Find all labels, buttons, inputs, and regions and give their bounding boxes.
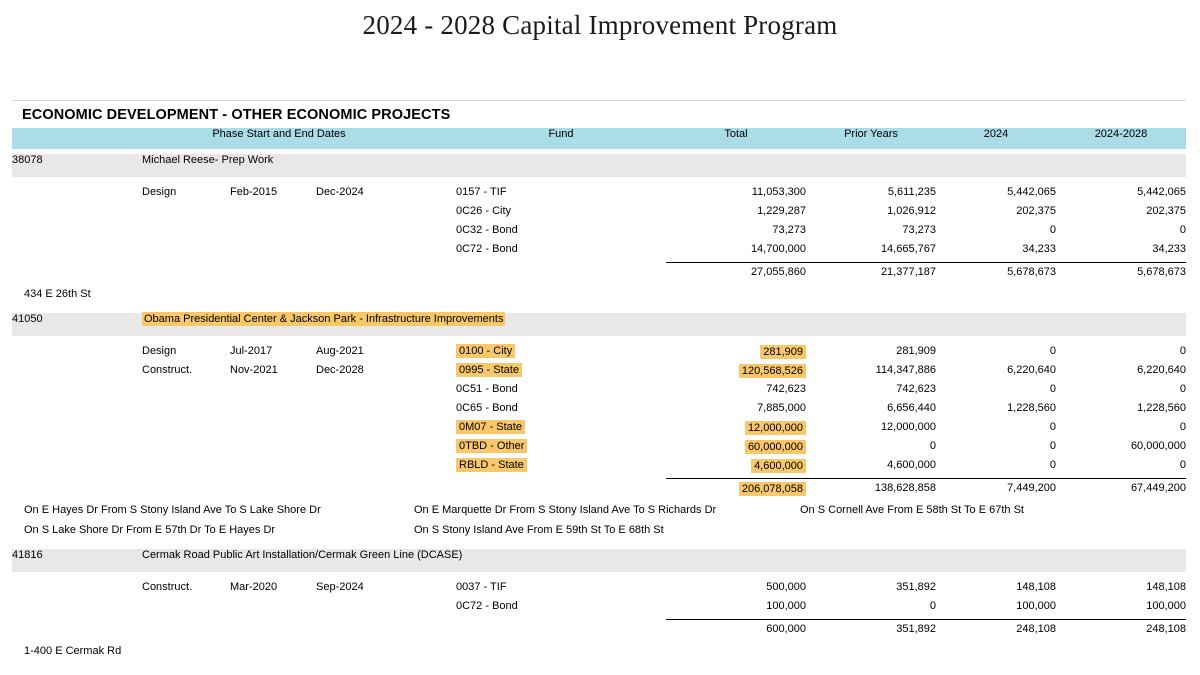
phase-start-date: [230, 421, 316, 440]
fund-total: 7,885,000: [666, 402, 806, 421]
phase-end-date: Dec-2024: [316, 186, 416, 205]
project-header-row: 41816Cermak Road Public Art Installation…: [12, 549, 1186, 572]
row-spacer: [12, 177, 1186, 186]
address-row: 1-400 E Cermak Rd: [12, 645, 1186, 665]
total-total: 206,078,058: [666, 479, 806, 505]
row-lead: [12, 459, 142, 479]
phase-start-date: [230, 440, 316, 459]
table-row: 0C26 - City1,229,2871,026,912202,375202,…: [12, 205, 1186, 224]
fund-label: 0C32 - Bond: [456, 224, 666, 243]
fund-prior-years: 1,026,912: [806, 205, 936, 224]
address-row: 434 E 26th St: [12, 288, 1186, 308]
row-lead: [12, 383, 142, 402]
fund-label: RBLD - State: [456, 459, 666, 479]
fund-2024-2028: 0: [1056, 345, 1186, 364]
fund-2024: 34,233: [936, 243, 1056, 263]
total-total: 600,000: [666, 620, 806, 646]
fund-2024: 202,375: [936, 205, 1056, 224]
table-row: DesignJul-2017Aug-20210100 - City281,909…: [12, 345, 1186, 364]
fund-total: 14,700,000: [666, 243, 806, 263]
fund-label: 0C51 - Bond: [456, 383, 666, 402]
table-row: DesignFeb-2015Dec-20240157 - TIF11,053,3…: [12, 186, 1186, 205]
phase-end-date: [316, 243, 416, 263]
row-gap: [416, 421, 456, 440]
phase-start-date: Mar-2020: [230, 581, 316, 600]
phase-start-date: [230, 243, 316, 263]
phase-end-date: [316, 459, 416, 479]
fund-2024-2028: 202,375: [1056, 205, 1186, 224]
fund-prior-years: 6,656,440: [806, 402, 936, 421]
project-id: 41050: [12, 313, 142, 336]
fund-2024: 0: [936, 421, 1056, 440]
fund-label: 0037 - TIF: [456, 581, 666, 600]
fund-2024-2028: 1,228,560: [1056, 402, 1186, 421]
address-line: 434 E 26th St: [12, 288, 1186, 308]
fund-2024-2028: 0: [1056, 421, 1186, 440]
row-lead: [12, 421, 142, 440]
row-lead: [12, 440, 142, 459]
fund-2024-2028: 0: [1056, 383, 1186, 402]
total-prior-years: 138,628,858: [806, 479, 936, 505]
total-2024: 248,108: [936, 620, 1056, 646]
fund-prior-years: 281,909: [806, 345, 936, 364]
row-lead: [12, 243, 142, 263]
total-total: 27,055,860: [666, 263, 806, 289]
phase-end-date: [316, 440, 416, 459]
row-gap: [416, 186, 456, 205]
fund-total: 12,000,000: [666, 421, 806, 440]
row-lead: [12, 581, 142, 600]
fund-2024: 0: [936, 224, 1056, 243]
project-id: 41816: [12, 549, 142, 572]
phase-start-date: [230, 402, 316, 421]
row-gap: [416, 243, 456, 263]
fund-total: 500,000: [666, 581, 806, 600]
address-col-1: 434 E 26th St: [24, 288, 91, 300]
table-row: 0C72 - Bond14,700,00014,665,76734,23334,…: [12, 243, 1186, 263]
row-gap: [416, 459, 456, 479]
row-lead: [12, 364, 142, 383]
phase-end-date: [316, 402, 416, 421]
phase-start-date: Jul-2017: [230, 345, 316, 364]
fund-2024: 6,220,640: [936, 364, 1056, 383]
header-phase-dates: Phase Start and End Dates: [142, 128, 416, 149]
project-id: 38078: [12, 154, 142, 177]
table-row: 0M07 - State12,000,00012,000,00000: [12, 421, 1186, 440]
header-blank: [12, 128, 142, 149]
fund-2024-2028: 0: [1056, 224, 1186, 243]
project-totals-row: 206,078,058138,628,8587,449,20067,449,20…: [12, 479, 1186, 505]
phase-start-date: Nov-2021: [230, 364, 316, 383]
fund-2024-2028: 34,233: [1056, 243, 1186, 263]
fund-label: 0C65 - Bond: [456, 402, 666, 421]
table-row: 0TBD - Other60,000,0000060,000,000: [12, 440, 1186, 459]
fund-label: 0TBD - Other: [456, 440, 666, 459]
document-page: 2024 - 2028 Capital Improvement Program …: [0, 0, 1200, 675]
phase-label: [142, 402, 230, 421]
phase-label: [142, 383, 230, 402]
phase-end-date: Dec-2028: [316, 364, 416, 383]
address-col-3: On S Cornell Ave From E 58th St To E 67t…: [800, 504, 1024, 516]
total-2024: 5,678,673: [936, 263, 1056, 289]
fund-prior-years: 0: [806, 600, 936, 620]
fund-prior-years: 742,623: [806, 383, 936, 402]
fund-label: 0C72 - Bond: [456, 243, 666, 263]
address-line: On E Hayes Dr From S Stony Island Ave To…: [12, 504, 1186, 524]
address-col-1: 1-400 E Cermak Rd: [24, 645, 121, 657]
row-lead: [12, 345, 142, 364]
table-row: 0C65 - Bond7,885,0006,656,4401,228,5601,…: [12, 402, 1186, 421]
total-2024-2028: 67,449,200: [1056, 479, 1186, 505]
address-line: On S Lake Shore Dr From E 57th Dr To E H…: [12, 524, 1186, 544]
address-line: 1-400 E Cermak Rd: [12, 645, 1186, 665]
total-2024: 7,449,200: [936, 479, 1056, 505]
phase-end-date: Aug-2021: [316, 345, 416, 364]
total-2024-2028: 5,678,673: [1056, 263, 1186, 289]
fund-2024-2028: 60,000,000: [1056, 440, 1186, 459]
fund-2024-2028: 6,220,640: [1056, 364, 1186, 383]
fund-prior-years: 14,665,767: [806, 243, 936, 263]
row-gap: [416, 440, 456, 459]
fund-2024-2028: 148,108: [1056, 581, 1186, 600]
fund-prior-years: 4,600,000: [806, 459, 936, 479]
phase-end-date: [316, 205, 416, 224]
project-totals-row: 600,000351,892248,108248,108: [12, 620, 1186, 646]
phase-label: [142, 224, 230, 243]
fund-total: 120,568,526: [666, 364, 806, 383]
fund-2024-2028: 100,000: [1056, 600, 1186, 620]
section-title: ECONOMIC DEVELOPMENT - OTHER ECONOMIC PR…: [12, 101, 1186, 128]
phase-start-date: [230, 459, 316, 479]
row-lead: [12, 224, 142, 243]
phase-label: Construct.: [142, 581, 230, 600]
page-title: 2024 - 2028 Capital Improvement Program: [0, 10, 1200, 41]
cip-sheet: ECONOMIC DEVELOPMENT - OTHER ECONOMIC PR…: [12, 100, 1186, 665]
phase-label: Design: [142, 345, 230, 364]
phase-label: [142, 440, 230, 459]
table-row: 0C32 - Bond73,27373,27300: [12, 224, 1186, 243]
phase-label: Construct.: [142, 364, 230, 383]
header-total: Total: [666, 128, 806, 149]
total-prior-years: 21,377,187: [806, 263, 936, 289]
fund-total: 1,229,287: [666, 205, 806, 224]
fund-prior-years: 12,000,000: [806, 421, 936, 440]
table-header-row: Phase Start and End DatesFundTotalPrior …: [12, 128, 1186, 149]
fund-2024-2028: 5,442,065: [1056, 186, 1186, 205]
phase-end-date: Sep-2024: [316, 581, 416, 600]
row-gap: [416, 581, 456, 600]
row-lead: [12, 205, 142, 224]
phase-label: Design: [142, 186, 230, 205]
fund-prior-years: 0: [806, 440, 936, 459]
table-row: 0C51 - Bond742,623742,62300: [12, 383, 1186, 402]
fund-total: 73,273: [666, 224, 806, 243]
phase-end-date: [316, 224, 416, 243]
header-2024: 2024: [936, 128, 1056, 149]
row-gap: [416, 600, 456, 620]
phase-start-date: [230, 600, 316, 620]
address-col-1: On E Hayes Dr From S Stony Island Ave To…: [24, 504, 321, 516]
total-2024-2028: 248,108: [1056, 620, 1186, 646]
fund-total: 742,623: [666, 383, 806, 402]
fund-prior-years: 114,347,886: [806, 364, 936, 383]
phase-end-date: [316, 383, 416, 402]
phase-start-date: [230, 205, 316, 224]
fund-2024: 100,000: [936, 600, 1056, 620]
fund-label: 0100 - City: [456, 345, 666, 364]
row-gap: [416, 224, 456, 243]
fund-prior-years: 5,611,235: [806, 186, 936, 205]
address-col-1: On S Lake Shore Dr From E 57th Dr To E H…: [24, 524, 275, 536]
fund-prior-years: 73,273: [806, 224, 936, 243]
fund-total: 100,000: [666, 600, 806, 620]
fund-prior-years: 351,892: [806, 581, 936, 600]
fund-2024: 0: [936, 345, 1056, 364]
fund-label: 0M07 - State: [456, 421, 666, 440]
phase-start-date: [230, 224, 316, 243]
fund-total: 11,053,300: [666, 186, 806, 205]
fund-2024: 1,228,560: [936, 402, 1056, 421]
address-row: On E Hayes Dr From S Stony Island Ave To…: [12, 504, 1186, 544]
phase-label: [142, 421, 230, 440]
row-lead: [12, 186, 142, 205]
fund-total: 4,600,000: [666, 459, 806, 479]
fund-2024: 148,108: [936, 581, 1056, 600]
fund-total: 60,000,000: [666, 440, 806, 459]
row-gap: [416, 205, 456, 224]
fund-2024: 5,442,065: [936, 186, 1056, 205]
project-totals-row: 27,055,86021,377,1875,678,6735,678,673: [12, 263, 1186, 289]
row-gap: [416, 364, 456, 383]
fund-2024: 0: [936, 459, 1056, 479]
project-header-row: 38078Michael Reese- Prep Work: [12, 154, 1186, 177]
fund-label: 0C72 - Bond: [456, 600, 666, 620]
row-lead: [12, 402, 142, 421]
fund-total: 281,909: [666, 345, 806, 364]
table-row: RBLD - State4,600,0004,600,00000: [12, 459, 1186, 479]
phase-start-date: Feb-2015: [230, 186, 316, 205]
fund-label: 0995 - State: [456, 364, 666, 383]
row-gap: [416, 402, 456, 421]
project-header-row: 41050Obama Presidential Center & Jackson…: [12, 313, 1186, 336]
fund-label: 0157 - TIF: [456, 186, 666, 205]
row-gap: [416, 345, 456, 364]
cip-table-body: Phase Start and End DatesFundTotalPrior …: [12, 128, 1186, 665]
header-2024-2028: 2024-2028: [1056, 128, 1186, 149]
phase-end-date: [316, 600, 416, 620]
phase-label: [142, 205, 230, 224]
phase-label: [142, 600, 230, 620]
row-spacer: [12, 572, 1186, 581]
header-fund: Fund: [456, 128, 666, 149]
fund-2024: 0: [936, 383, 1056, 402]
fund-2024: 0: [936, 440, 1056, 459]
fund-label: 0C26 - City: [456, 205, 666, 224]
row-lead: [12, 600, 142, 620]
table-row: 0C72 - Bond100,0000100,000100,000: [12, 600, 1186, 620]
project-name: Obama Presidential Center & Jackson Park…: [142, 313, 1186, 336]
table-row: Construct.Nov-2021Dec-20280995 - State12…: [12, 364, 1186, 383]
project-name: Cermak Road Public Art Installation/Cerm…: [142, 549, 1186, 572]
table-row: Construct.Mar-2020Sep-20240037 - TIF500,…: [12, 581, 1186, 600]
phase-start-date: [230, 383, 316, 402]
fund-2024-2028: 0: [1056, 459, 1186, 479]
header-prior-years: Prior Years: [806, 128, 936, 149]
phase-end-date: [316, 421, 416, 440]
address-col-2: On S Stony Island Ave From E 59th St To …: [414, 524, 664, 536]
project-name: Michael Reese- Prep Work: [142, 154, 1186, 177]
row-spacer: [12, 336, 1186, 345]
phase-label: [142, 243, 230, 263]
row-gap: [416, 383, 456, 402]
cip-table: Phase Start and End DatesFundTotalPrior …: [12, 128, 1186, 665]
header-gap: [416, 128, 456, 149]
address-col-2: On E Marquette Dr From S Stony Island Av…: [414, 504, 716, 516]
phase-label: [142, 459, 230, 479]
total-prior-years: 351,892: [806, 620, 936, 646]
